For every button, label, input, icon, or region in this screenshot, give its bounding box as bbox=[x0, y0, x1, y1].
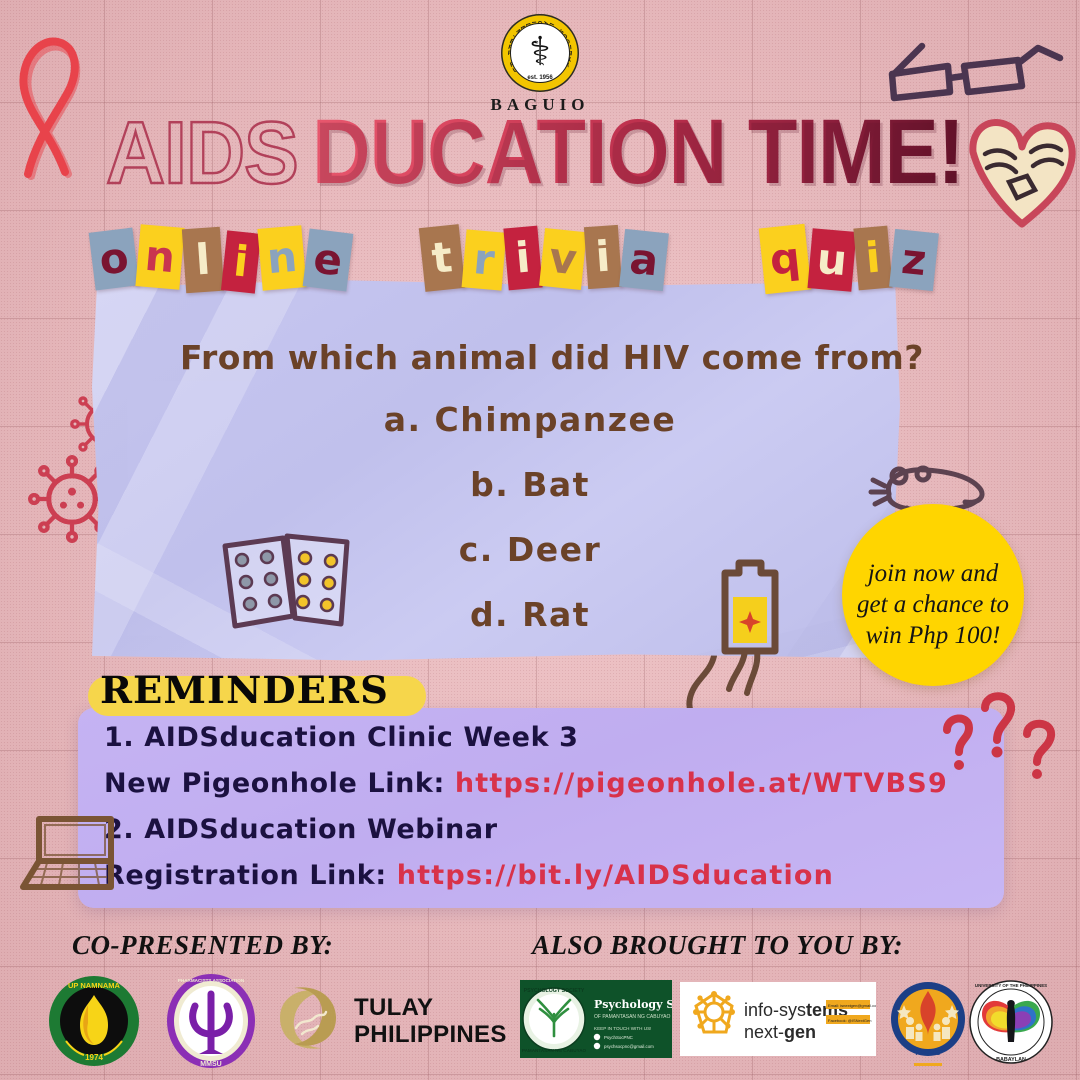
quiz-choice-d[interactable]: d. Rat bbox=[180, 595, 880, 634]
ransom-letter-q-2-0: q bbox=[759, 224, 812, 294]
reminders-list: 1. AIDSducation Clinic Week 3 New Pigeon… bbox=[104, 722, 1004, 906]
ransom-letter-t-1-0: t bbox=[419, 224, 465, 292]
logo-psychology-society: PSYCHOLOGY SOCIETY PAMANTASAN NG CABUYAO… bbox=[520, 980, 672, 1058]
svg-text:Email: isnextgen@gmail.com: Email: isnextgen@gmail.com bbox=[828, 1003, 876, 1008]
ransom-letter-a-1-5: a bbox=[619, 229, 669, 291]
quiz-choice-c[interactable]: c. Deer bbox=[180, 530, 880, 569]
svg-text:1974: 1974 bbox=[85, 1053, 103, 1062]
tulay-line-2: PHILIPPINES bbox=[354, 1021, 507, 1048]
pigeonhole-label: New Pigeonhole Link: bbox=[104, 768, 455, 799]
quiz-choice-a[interactable]: a. Chimpanzee bbox=[180, 400, 880, 439]
ransom-word-trivia: trivia bbox=[422, 226, 668, 290]
reminder-item-2: New Pigeonhole Link: https://pigeonhole.… bbox=[104, 768, 1004, 799]
quiz-choice-b[interactable]: b. Bat bbox=[180, 465, 880, 504]
subtitle-ransom-note: onlinetriviaquiz bbox=[92, 226, 992, 308]
poster-title: AIDSDUCATION TIME! bbox=[106, 104, 1006, 204]
poster-canvas: UP PRE-MEDICAL SOCIETY ⚕ est. 1956 BAGUI… bbox=[0, 0, 1080, 1080]
svg-text:PAMANTASAN NG CABUYAO: PAMANTASAN NG CABUYAO bbox=[522, 1048, 587, 1053]
svg-text:BABAYLAN: BABAYLAN bbox=[996, 1057, 1026, 1063]
ransom-letter-i-2-2: i bbox=[853, 226, 892, 291]
svg-text:UP NAMNAMA: UP NAMNAMA bbox=[68, 981, 121, 990]
caduceus-icon: ⚕ bbox=[529, 32, 551, 72]
svg-text:KEEP IN TOUCH WITH US!: KEEP IN TOUCH WITH US! bbox=[594, 1026, 651, 1031]
ransom-letter-l-0-2: l bbox=[182, 227, 224, 293]
logo-babaylan: UNIVERSITY OF THE PHILIPPINES BABAYLAN bbox=[968, 978, 1054, 1068]
logo-info-systems-next-gen: info-systems next-gen Email: isnextgen@g… bbox=[680, 982, 876, 1056]
reminders-title-wrap: REMINDERS bbox=[100, 668, 378, 712]
svg-text:PSYCHOLOGY SOCIETY: PSYCHOLOGY SOCIETY bbox=[524, 988, 585, 994]
logo-mmsu-psych: MMSU PHARMACISTS ASSOCIATION bbox=[165, 972, 257, 1070]
svg-text:APPMS: APPMS bbox=[916, 1050, 941, 1057]
tulay-mark-icon bbox=[268, 978, 348, 1058]
reminder-item-4: Registration Link: https://bit.ly/AIDSdu… bbox=[104, 860, 1004, 891]
svg-text:Psychology Society: Psychology Society bbox=[594, 998, 672, 1011]
title-solid-part: DUCATION TIME! bbox=[312, 104, 964, 200]
ransom-letter-u-2-1: u bbox=[807, 228, 856, 292]
prize-line-2: get a chance to bbox=[857, 589, 1009, 620]
ransom-letter-i-1-2: i bbox=[503, 226, 542, 291]
reminder-item-1: 1. AIDSducation Clinic Week 3 bbox=[104, 722, 1004, 753]
svg-text:PsychSocPNC: PsychSocPNC bbox=[604, 1035, 633, 1040]
org-logo: UP PRE-MEDICAL SOCIETY ⚕ est. 1956 BAGUI… bbox=[460, 14, 620, 114]
pigeonhole-link[interactable]: https://pigeonhole.at/WTVBS9 bbox=[455, 768, 948, 799]
ransom-letter-n-0-1: n bbox=[135, 224, 184, 290]
ransom-word-online: online bbox=[92, 226, 352, 292]
svg-text:UNIVERSITY OF THE PHILIPPINES: UNIVERSITY OF THE PHILIPPINES bbox=[975, 983, 1047, 988]
ransom-letter-v-1-3: v bbox=[539, 228, 587, 290]
logo-apmc-alliance: APPMS bbox=[888, 975, 968, 1071]
logo-tulay-philippines: TULAY PHILIPPINES bbox=[268, 978, 498, 1064]
svg-text:OF PAMANTASAN NG CABUYAO: OF PAMANTASAN NG CABUYAO bbox=[594, 1014, 671, 1020]
ransom-word-quiz: quiz bbox=[762, 226, 938, 292]
co-presented-label: CO-PRESENTED BY: bbox=[72, 930, 333, 961]
tulay-text: TULAY PHILIPPINES bbox=[354, 994, 507, 1048]
registration-link[interactable]: https://bit.ly/AIDSducation bbox=[397, 860, 834, 891]
ransom-letter-n-0-4: n bbox=[257, 225, 306, 291]
prize-badge: join now and get a chance to win Php 100… bbox=[842, 504, 1024, 686]
svg-text:PHARMACISTS ASSOCIATION: PHARMACISTS ASSOCIATION bbox=[178, 978, 245, 983]
quiz-question: From which animal did HIV come from? bbox=[112, 338, 992, 377]
seal-est-text: est. 1956 bbox=[501, 75, 579, 81]
logo-up-namnama: UP NAMNAMA 1974 bbox=[48, 975, 140, 1067]
ransom-letter-i-0-3: i bbox=[221, 230, 261, 293]
prize-line-1: join now and bbox=[857, 558, 1009, 589]
pre-medical-society-seal: UP PRE-MEDICAL SOCIETY ⚕ est. 1956 bbox=[501, 14, 579, 92]
ransom-letter-i-1-4: i bbox=[584, 225, 622, 289]
svg-text:psychsocpnc@gmail.com: psychsocpnc@gmail.com bbox=[604, 1044, 654, 1049]
quiz-choices: a. Chimpanzeeb. Batc. Deerd. Rat bbox=[180, 400, 880, 660]
reminders-title: REMINDERS bbox=[100, 668, 389, 712]
ransom-letter-r-1-1: r bbox=[462, 229, 507, 290]
ransom-letter-o-0-0: o bbox=[89, 228, 140, 291]
ransom-letter-e-0-5: e bbox=[303, 229, 354, 292]
reminder-item-3: 2. AIDSducation Webinar bbox=[104, 814, 1004, 845]
prize-badge-text: join now and get a chance to win Php 100… bbox=[845, 558, 1021, 651]
registration-label: Registration Link: bbox=[104, 860, 397, 891]
svg-text:next-gen: next-gen bbox=[744, 1022, 816, 1042]
title-outline-part: AIDS bbox=[106, 105, 298, 201]
svg-text:MMSU: MMSU bbox=[200, 1061, 221, 1068]
also-brought-label: ALSO BROUGHT TO YOU BY: bbox=[532, 930, 903, 961]
tulay-line-1: TULAY bbox=[354, 994, 507, 1021]
ransom-letter-z-2-3: z bbox=[889, 229, 939, 291]
prize-line-3: win Php 100! bbox=[857, 620, 1009, 651]
svg-text:Facebook: @ISNextGen: Facebook: @ISNextGen bbox=[828, 1018, 871, 1023]
